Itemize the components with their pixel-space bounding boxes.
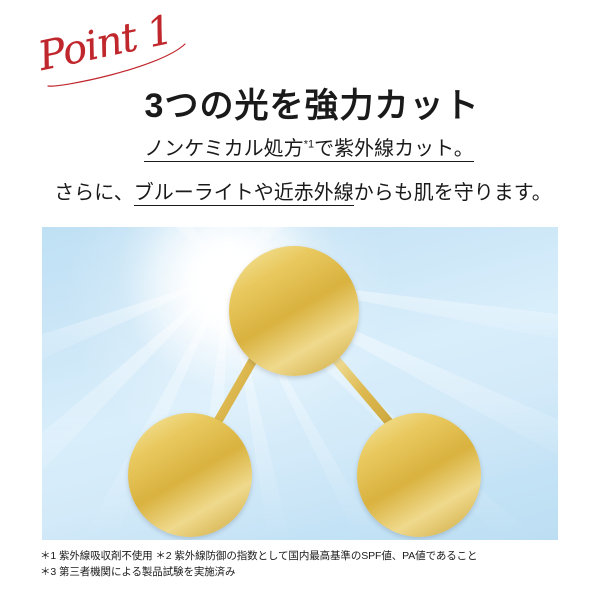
footnote-line-1: ＊1 紫外線吸収剤不使用 ＊2 紫外線防御の指数として国内最高基準のSPF値、P… [40, 549, 580, 565]
bubble-near-infrared-value: 93.0% [379, 475, 460, 509]
footnote-mark-2: *2 [317, 334, 326, 345]
bubble-blue-light-inner: ブルーライト カット*3 99.1% [132, 417, 248, 533]
bubble-blue-light-number: 99.1 [150, 473, 212, 511]
bubble-uv-title: 紫外線カット [255, 261, 333, 275]
bubble-near-infrared: 近赤外線 カット*3 93.0% [357, 413, 481, 537]
bubble-uv-spf-value: 50+ [263, 294, 324, 331]
subheading-line-2: さらに、ブルーライトや近赤外線からも肌を守ります。 [0, 176, 600, 205]
infographic-page: Point 1 3つの光を強力カット ノンケミカル処方*1で紫外線カット。 さら… [0, 0, 600, 600]
bubble-uv-note: 国内最高基準値 [260, 348, 328, 359]
bubble-near-infrared-number: 93.0 [379, 473, 441, 511]
bubble-blue-light-unit: % [212, 485, 231, 508]
footnotes: ＊1 紫外線吸収剤不使用 ＊2 紫外線防御の指数として国内最高基準のSPF値、P… [40, 549, 580, 581]
bubble-uv-protection: 紫外線カット SPF 50+ PA++++*2 国内最高基準値 [229, 246, 359, 376]
bubble-near-infrared-unit: % [441, 485, 460, 508]
subheading-2-underlined: ブルーライトや近赤外線 [134, 182, 354, 206]
bubble-blue-light-title-line2: カット*3 [165, 459, 214, 473]
bubble-uv-pa-value: PA++++ [262, 331, 313, 347]
bubble-near-infrared-title-line1: 近赤外線 [394, 443, 444, 457]
subheading-1-rest: で紫外線カット。 [314, 138, 474, 160]
subheading-line-1: ノンケミカル処方*1で紫外線カット。 [0, 132, 600, 161]
bubble-blue-light-value: 99.1% [150, 475, 231, 509]
footnote-mark-1: *1 [304, 138, 314, 150]
bubble-near-infrared-title: 近赤外線 カット*3 [394, 442, 444, 474]
bubble-near-infrared-title-line2: カット*3 [394, 459, 443, 473]
bubble-uv-pa-row: PA++++*2 [262, 332, 327, 347]
diagram-panel: 紫外線カット SPF 50+ PA++++*2 国内最高基準値 ブルーライト カ… [42, 227, 558, 540]
bubble-uv-inner: 紫外線カット SPF 50+ PA++++*2 国内最高基準値 [233, 250, 355, 372]
bubble-blue-light: ブルーライト カット*3 99.1% [128, 413, 252, 537]
subheading-1-text: ノンケミカル処方 [144, 138, 303, 160]
footnote-line-2: ＊3 第三者機関による製品試験を実施済み [40, 565, 580, 581]
subheading-2-rest: からも肌を守ります。 [354, 182, 552, 204]
subheading-1-underlined: ノンケミカル処方*1で紫外線カット。 [144, 138, 473, 162]
bubble-near-infrared-inner: 近赤外線 カット*3 93.0% [361, 417, 477, 533]
bubble-blue-light-title: ブルーライト カット*3 [152, 442, 227, 474]
page-title: 3つの光を強力カット [0, 78, 600, 127]
bubble-blue-light-title-line1: ブルーライト [152, 443, 227, 457]
subheading-2-lead: さらに、 [54, 182, 133, 204]
